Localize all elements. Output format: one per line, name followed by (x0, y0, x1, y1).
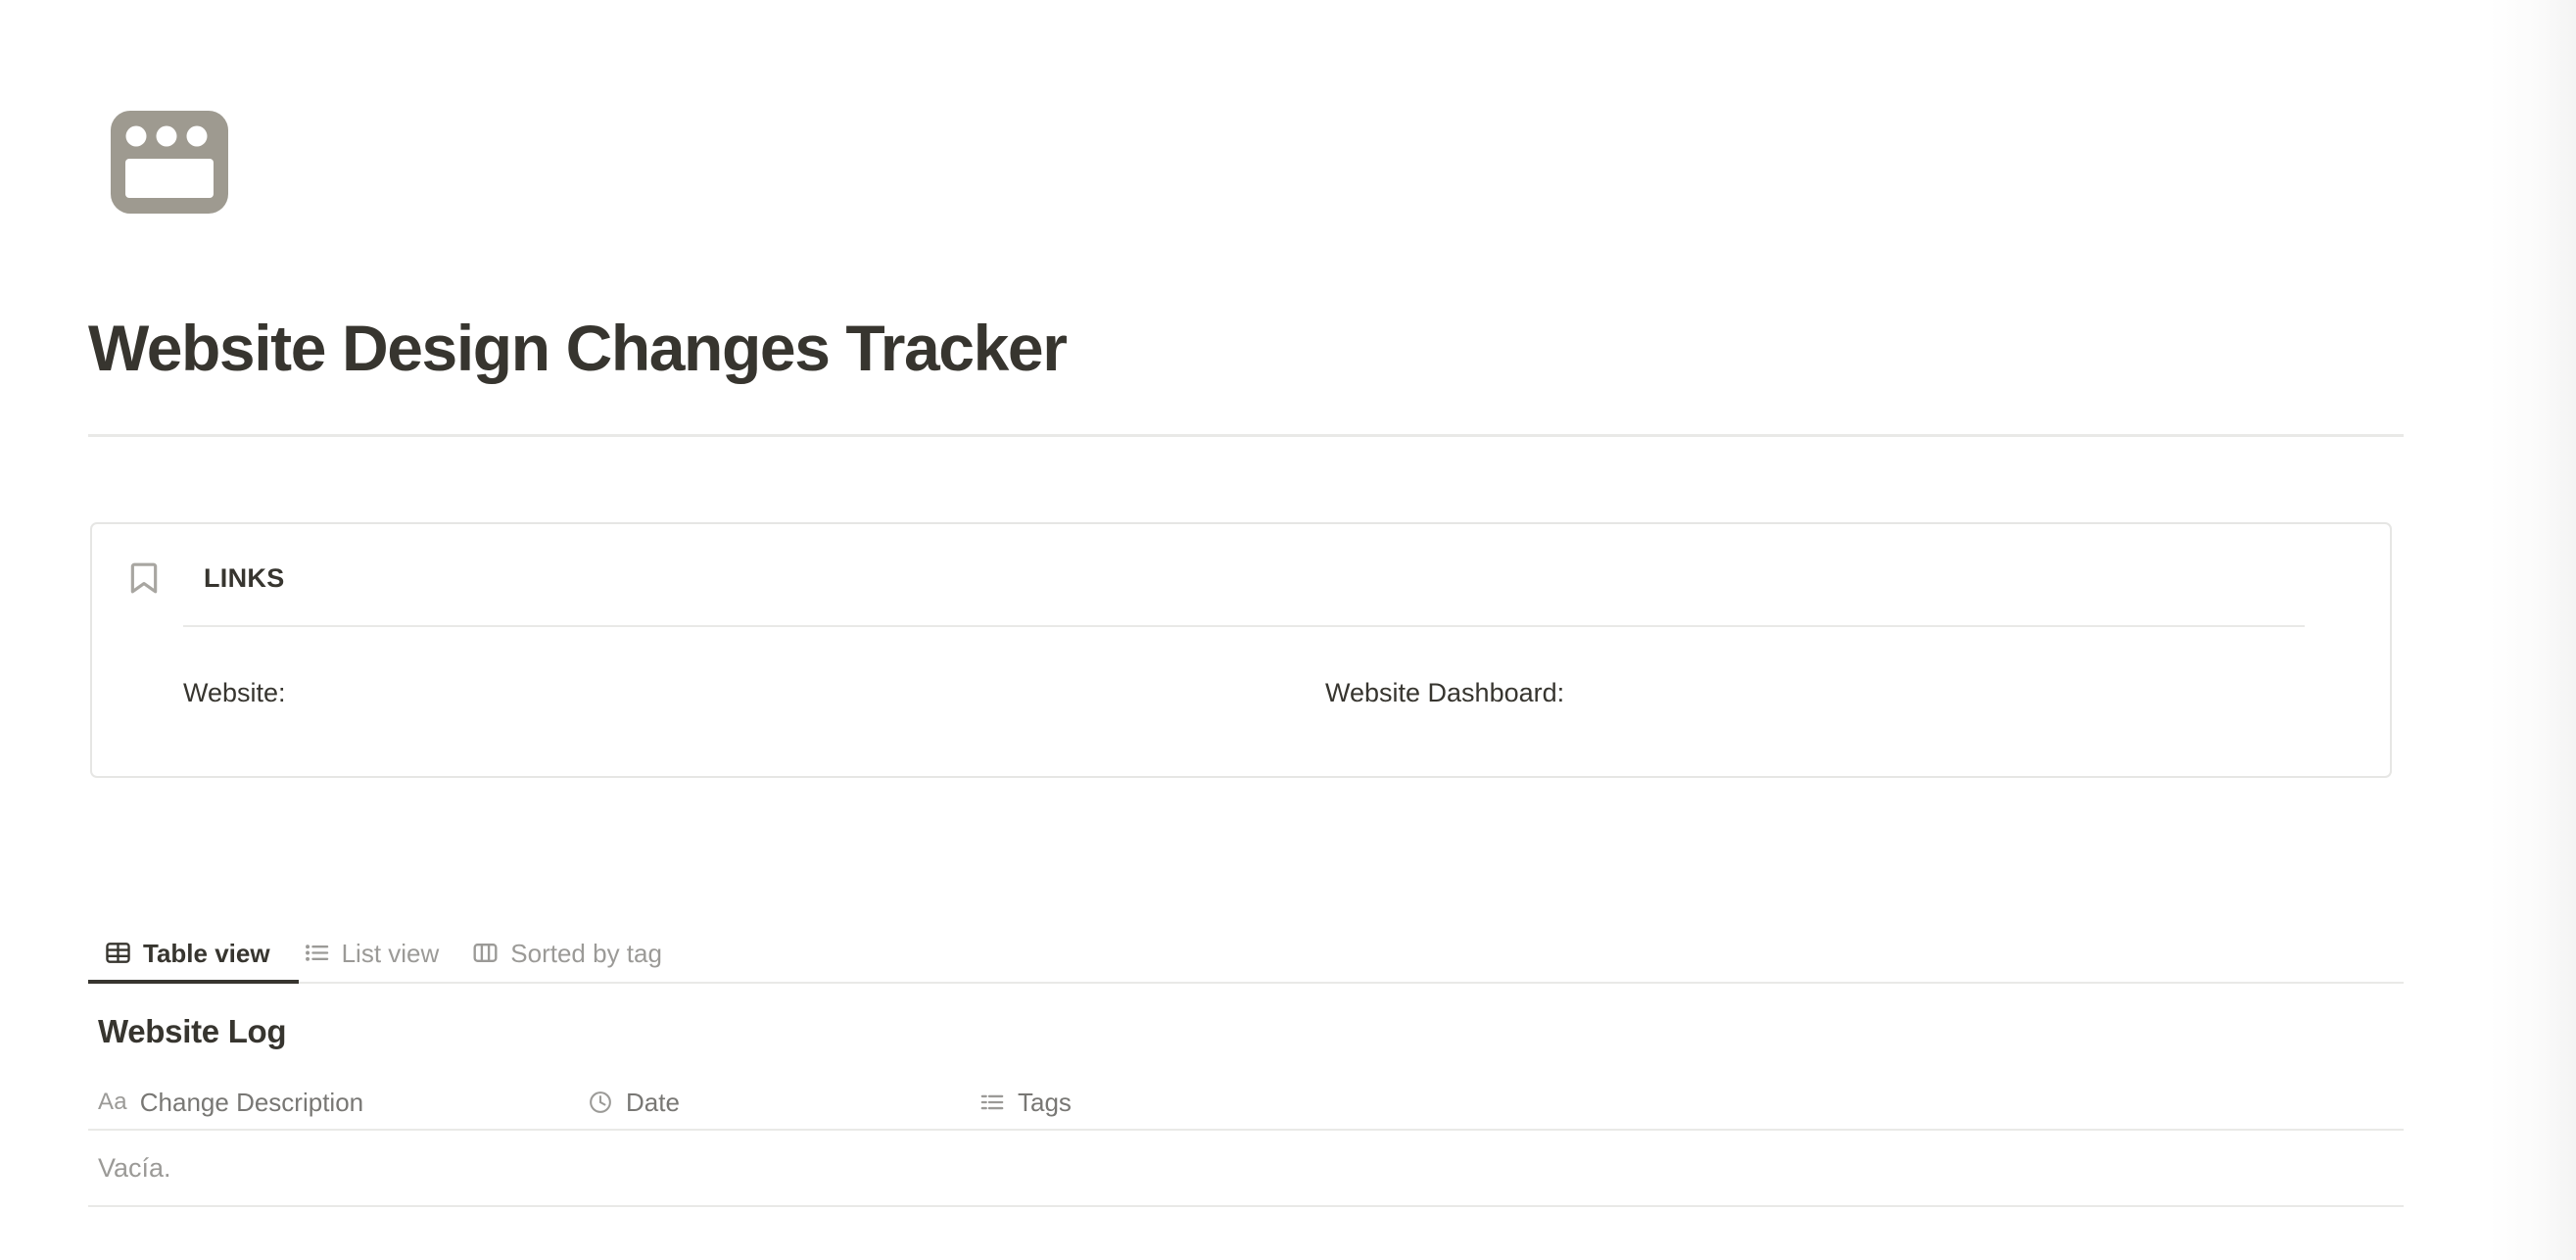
links-card-header: LINKS (129, 561, 285, 595)
column-header-date-label: Date (626, 1088, 680, 1117)
table-grid-icon (105, 940, 131, 966)
multi-select-list-icon (979, 1090, 1005, 1115)
page-right-edge-shadow (2488, 0, 2576, 1260)
column-header-tags[interactable]: Tags (970, 1076, 1361, 1129)
table-empty-state-text: Vacía. (88, 1152, 171, 1184)
clock-icon (588, 1090, 613, 1115)
column-header-change-description[interactable]: Aa Change Description (88, 1076, 578, 1129)
tab-list-view[interactable]: List view (287, 924, 456, 982)
column-header-tags-label: Tags (1018, 1088, 1072, 1117)
notion-page: Website Design Changes Tracker LINKS Web… (0, 0, 2576, 1260)
links-card-heading: LINKS (204, 561, 285, 595)
board-columns-icon (472, 940, 499, 966)
bulleted-list-icon (304, 940, 330, 966)
database-title[interactable]: Website Log (98, 1011, 286, 1052)
page-title[interactable]: Website Design Changes Tracker (88, 309, 1067, 387)
text-aa-icon: Aa (98, 1090, 127, 1115)
links-column-website: Website: (183, 673, 1325, 712)
browser-window-icon (111, 111, 228, 214)
tab-table-view[interactable]: Table view (88, 924, 287, 982)
tab-table-view-label: Table view (143, 939, 270, 968)
column-header-date[interactable]: Date (578, 1076, 970, 1129)
page-icon[interactable] (111, 111, 228, 214)
active-tab-underline (88, 980, 299, 984)
tab-sorted-by-tag-label: Sorted by tag (510, 939, 662, 968)
database-view-tabs: Table view List view (88, 924, 2404, 984)
tab-sorted-by-tag[interactable]: Sorted by tag (455, 924, 679, 982)
links-card: LINKS Website: Website Dashboard: (90, 522, 2392, 778)
title-divider (88, 434, 2404, 437)
links-card-columns: Website: Website Dashboard: (183, 673, 2318, 712)
bookmark-icon (129, 561, 159, 595)
website-dashboard-link-label[interactable]: Website Dashboard: (1325, 673, 2305, 712)
tab-list-view-label: List view (342, 939, 440, 968)
links-column-dashboard: Website Dashboard: (1325, 673, 2305, 712)
website-link-label[interactable]: Website: (183, 673, 1325, 712)
column-header-change-description-label: Change Description (140, 1088, 363, 1117)
links-card-header-divider (183, 625, 2305, 627)
table-empty-row[interactable]: Vacía. (88, 1131, 2404, 1207)
view-tabs-baseline (88, 982, 2404, 984)
table-header-row: Aa Change Description Date (88, 1076, 2404, 1131)
